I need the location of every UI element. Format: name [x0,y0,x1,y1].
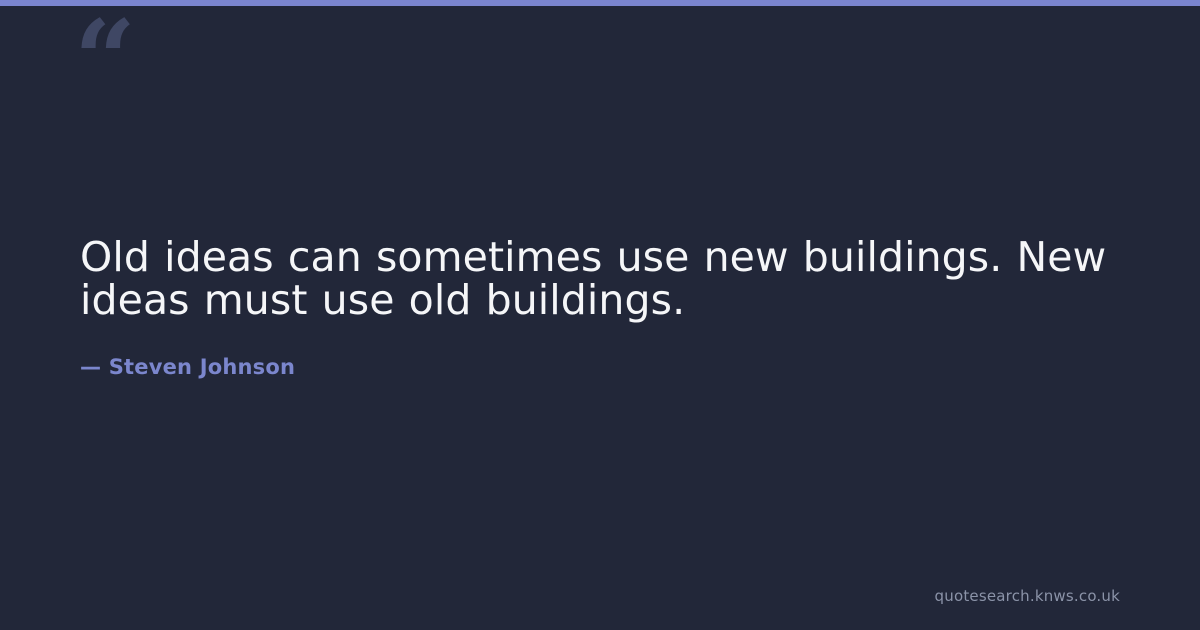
top-accent-bar [0,0,1200,6]
attribution-author-name: Steven Johnson [109,355,295,379]
attribution-dash: — [80,355,101,379]
quote-attribution: — Steven Johnson [80,322,1124,380]
quote-card: “ Old ideas can sometimes use new buildi… [0,0,1200,630]
site-url-watermark: quotesearch.knws.co.uk [935,587,1120,605]
quotation-mark-icon: “ [74,6,134,114]
quote-text: Old ideas can sometimes use new building… [80,236,1124,322]
quote-content: Old ideas can sometimes use new building… [80,236,1124,380]
